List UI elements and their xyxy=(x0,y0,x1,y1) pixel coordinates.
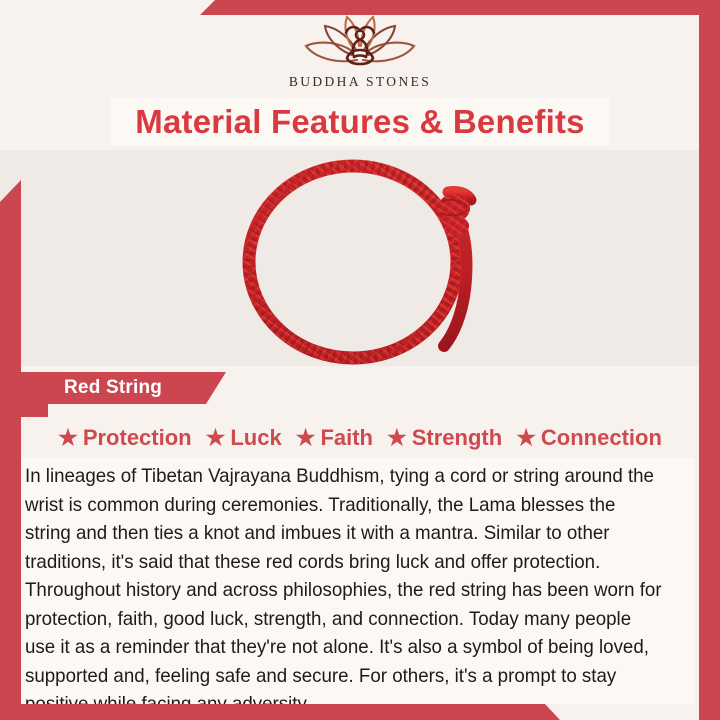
frame-top-bar xyxy=(0,0,720,15)
benefit-label: Strength xyxy=(412,425,502,451)
benefit-item: ★ Protection xyxy=(58,425,192,451)
benefit-item: ★ Luck xyxy=(206,425,282,451)
bracelet-knot xyxy=(438,194,470,235)
product-image xyxy=(0,150,720,366)
benefit-item: ★ Faith xyxy=(296,425,373,451)
red-string-bracelet-illustration xyxy=(222,150,498,366)
benefits-row: ★ Protection ★ Luck ★ Faith ★ Strength ★… xyxy=(21,418,699,458)
star-icon: ★ xyxy=(387,427,407,449)
frame-right-bar xyxy=(699,0,720,720)
page-title: Material Features & Benefits xyxy=(135,103,584,141)
benefit-label: Luck xyxy=(230,425,281,451)
benefit-label: Connection xyxy=(541,425,662,451)
description-text: In lineages of Tibetan Vajrayana Buddhis… xyxy=(25,462,666,719)
star-icon: ★ xyxy=(296,427,316,449)
description-panel: In lineages of Tibetan Vajrayana Buddhis… xyxy=(21,458,695,704)
benefit-item: ★ Strength xyxy=(387,425,502,451)
brand-logo: BUDDHA STONES xyxy=(0,14,720,98)
poster: BUDDHA STONES Material Features & Benefi… xyxy=(0,0,720,720)
title-banner: Material Features & Benefits xyxy=(110,98,610,146)
frame-left-bar xyxy=(0,180,21,720)
brand-name: BUDDHA STONES xyxy=(289,74,431,90)
benefit-item: ★ Connection xyxy=(516,425,662,451)
product-label: Red String xyxy=(64,377,162,399)
benefit-label: Faith xyxy=(320,425,373,451)
star-icon: ★ xyxy=(516,427,536,449)
star-icon: ★ xyxy=(206,427,226,449)
lotus-meditation-icon xyxy=(301,14,419,72)
product-label-banner: Red String xyxy=(0,372,226,404)
star-icon: ★ xyxy=(58,427,78,449)
benefit-label: Protection xyxy=(83,425,192,451)
